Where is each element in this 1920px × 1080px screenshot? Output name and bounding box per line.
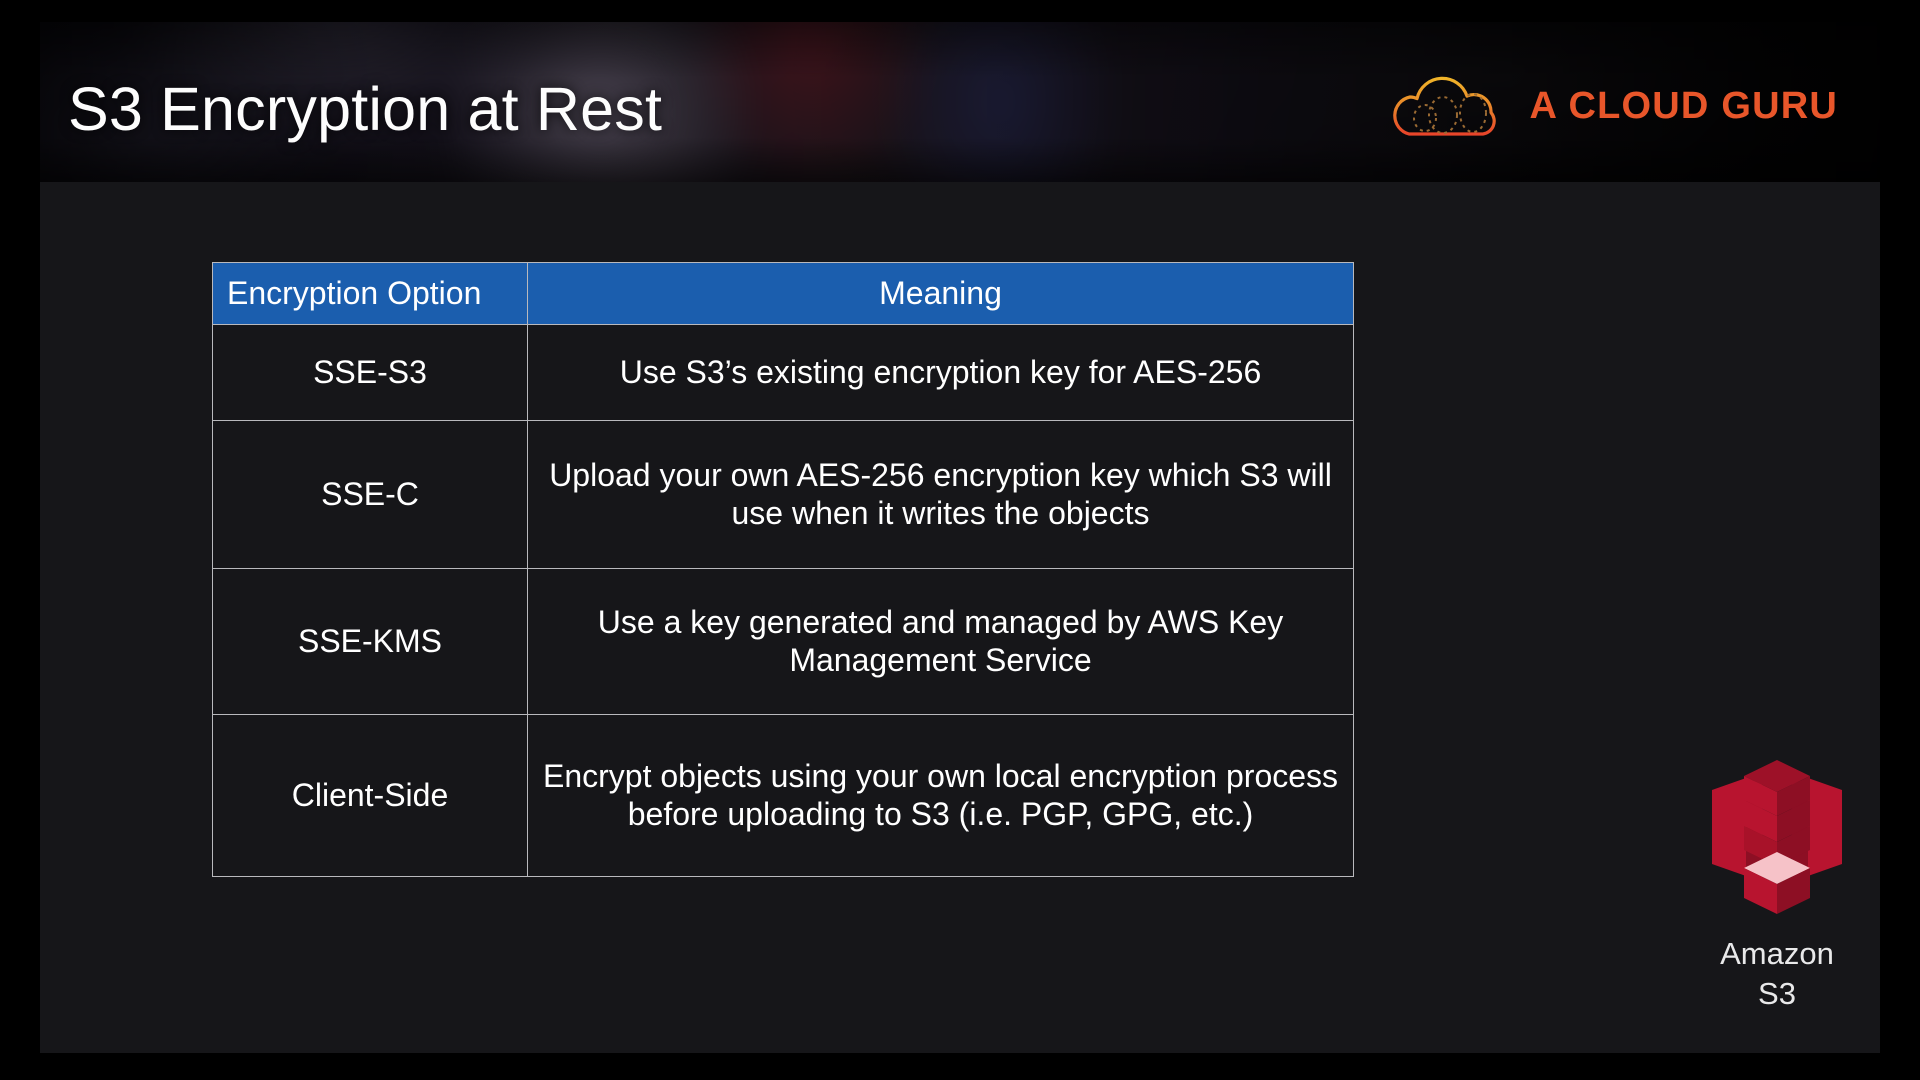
cell-encryption-option: SSE-KMS xyxy=(213,569,528,715)
cell-meaning: Use a key generated and managed by AWS K… xyxy=(528,569,1354,715)
brand-name: A CLOUD GURU xyxy=(1529,85,1838,128)
slide-banner: S3 Encryption at Rest A CLOUD xyxy=(40,22,1880,182)
cloud-outline-icon xyxy=(1389,70,1511,142)
slide: S3 Encryption at Rest A CLOUD xyxy=(40,22,1880,1053)
table-row: Client-Side Encrypt objects using your o… xyxy=(213,715,1354,877)
cell-meaning: Use S3’s existing encryption key for AES… xyxy=(528,325,1354,421)
column-header-encryption-option: Encryption Option xyxy=(213,263,528,325)
table-row: SSE-KMS Use a key generated and managed … xyxy=(213,569,1354,715)
brand-logo: A CLOUD GURU xyxy=(1389,70,1838,142)
amazon-s3-badge: Amazon S3 xyxy=(1682,754,1872,1013)
cell-meaning: Encrypt objects using your own local enc… xyxy=(528,715,1354,877)
table-row: SSE-S3 Use S3’s existing encryption key … xyxy=(213,325,1354,421)
service-badge-caption: Amazon S3 xyxy=(1682,934,1872,1013)
cell-encryption-option: Client-Side xyxy=(213,715,528,877)
column-header-meaning: Meaning xyxy=(528,263,1354,325)
cell-encryption-option: SSE-S3 xyxy=(213,325,528,421)
table-row: SSE-C Upload your own AES-256 encryption… xyxy=(213,421,1354,569)
screen: S3 Encryption at Rest A CLOUD xyxy=(0,0,1920,1080)
cell-encryption-option: SSE-C xyxy=(213,421,528,569)
table-header-row: Encryption Option Meaning xyxy=(213,263,1354,325)
page-title: S3 Encryption at Rest xyxy=(68,77,662,141)
cell-meaning: Upload your own AES-256 encryption key w… xyxy=(528,421,1354,569)
amazon-s3-bucket-icon xyxy=(1702,754,1852,924)
encryption-options-table: Encryption Option Meaning SSE-S3 Use S3’… xyxy=(212,262,1354,877)
